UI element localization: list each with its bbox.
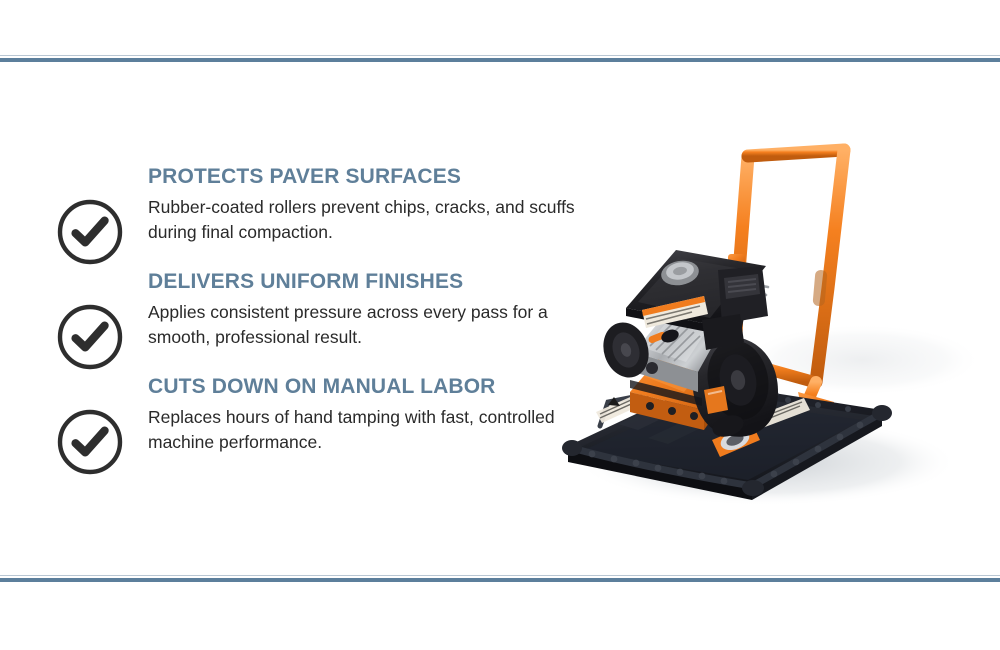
check-circle-icon [56,303,124,371]
benefit-text-2: DELIVERS UNIFORM FINISHES Applies consis… [148,270,576,350]
plate-compactor-illustration [552,110,992,530]
benefit-text-1: PROTECTS PAVER SURFACES Rubber-coated ro… [148,165,576,245]
top-rule-bar [0,58,1000,62]
benefit-description-1: Rubber-coated rollers prevent chips, cra… [148,195,576,245]
check-circle-icon [56,408,124,476]
benefit-text-3: CUTS DOWN ON MANUAL LABOR Replaces hours… [148,375,576,455]
plate-compactor-photo [552,110,992,530]
plate-corner-bumper-right [872,405,892,421]
benefit-title-3: CUTS DOWN ON MANUAL LABOR [148,375,576,398]
banner-canvas: PROTECTS PAVER SURFACES Rubber-coated ro… [0,0,1000,650]
benefit-item-1: PROTECTS PAVER SURFACES Rubber-coated ro… [56,165,576,270]
bottom-rule-bar [0,578,1000,582]
benefit-title-2: DELIVERS UNIFORM FINISHES [148,270,576,293]
check-circle-icon [56,198,124,266]
benefit-item-3: CUTS DOWN ON MANUAL LABOR Replaces hours… [56,375,576,480]
benefit-description-2: Applies consistent pressure across every… [148,300,576,350]
bottom-divider-rule [0,575,1000,583]
product-shadow-rear [742,324,982,396]
benefit-item-2: DELIVERS UNIFORM FINISHES Applies consis… [56,270,576,375]
plate-corner-bumper-left [562,440,582,456]
plate-corner-bumper-front [742,480,764,496]
bottom-rule-hairline [0,575,1000,576]
belt-guard-brand-stripe [704,386,728,414]
benefit-description-3: Replaces hours of hand tamping with fast… [148,405,576,455]
top-divider-rule [0,55,1000,63]
benefit-title-1: PROTECTS PAVER SURFACES [148,165,576,188]
top-rule-hairline [0,55,1000,56]
benefits-list: PROTECTS PAVER SURFACES Rubber-coated ro… [56,165,576,480]
